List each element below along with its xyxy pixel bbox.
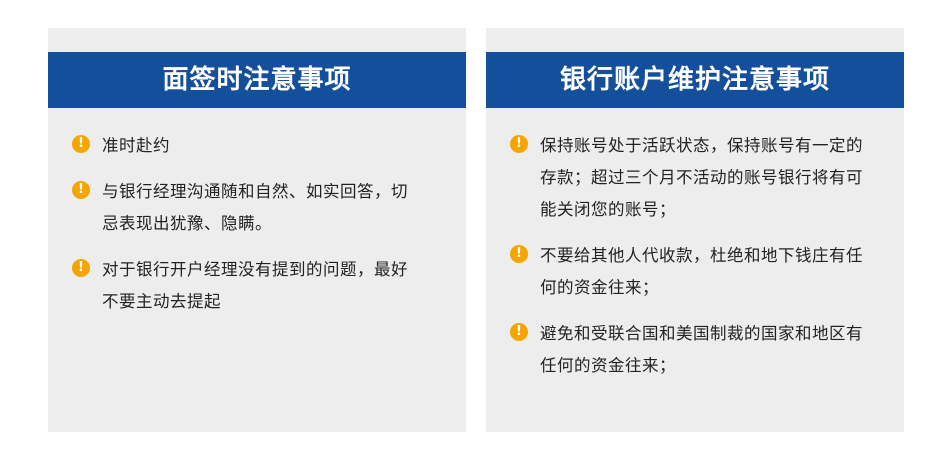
list-item: ! 避免和受联合国和美国制裁的国家和地区有任何的资金往来； <box>510 318 878 382</box>
exclamation-icon: ! <box>510 135 528 153</box>
notice-board: 面签时注意事项 ! 准时赴约 ! 与银行经理沟通随和自然、如实回答，切忌表现出犹… <box>0 0 930 464</box>
exclamation-icon: ! <box>72 135 90 153</box>
exclamation-icon: ! <box>72 181 90 199</box>
list-item: ! 保持账号处于活跃状态，保持账号有一定的存款；超过三个月不活动的账号银行将有可… <box>510 130 878 226</box>
panel-title-left: 面签时注意事项 <box>162 67 351 93</box>
panel-mianqian-notes: 面签时注意事项 ! 准时赴约 ! 与银行经理沟通随和自然、如实回答，切忌表现出犹… <box>48 28 466 432</box>
panel-header-right: 银行账户维护注意事项 <box>486 52 904 108</box>
list-item: ! 不要给其他人代收款，杜绝和地下钱庄有任何的资金往来； <box>510 240 878 304</box>
list-item-text: 保持账号处于活跃状态，保持账号有一定的存款；超过三个月不活动的账号银行将有可能关… <box>540 130 865 226</box>
panel-title-right: 银行账户维护注意事项 <box>560 67 830 93</box>
panel-body-left: ! 准时赴约 ! 与银行经理沟通随和自然、如实回答，切忌表现出犹豫、隐瞒。 ! … <box>48 108 466 342</box>
panel-body-right: ! 保持账号处于活跃状态，保持账号有一定的存款；超过三个月不活动的账号银行将有可… <box>486 108 904 406</box>
list-item-text: 对于银行开户经理没有提到的问题，最好不要主动去提起 <box>102 254 424 318</box>
list-item: ! 与银行经理沟通随和自然、如实回答，切忌表现出犹豫、隐瞒。 <box>72 176 440 240</box>
list-item: ! 准时赴约 <box>72 130 440 162</box>
exclamation-icon: ! <box>72 259 90 277</box>
exclamation-icon: ! <box>510 245 528 263</box>
list-item: ! 对于银行开户经理没有提到的问题，最好不要主动去提起 <box>72 254 440 318</box>
panel-account-maintenance-notes: 银行账户维护注意事项 ! 保持账号处于活跃状态，保持账号有一定的存款；超过三个月… <box>486 28 904 432</box>
list-item-text: 避免和受联合国和美国制裁的国家和地区有任何的资金往来； <box>540 318 865 382</box>
list-item-text: 不要给其他人代收款，杜绝和地下钱庄有任何的资金往来； <box>540 240 865 304</box>
list-item-text: 准时赴约 <box>102 130 424 162</box>
list-item-text: 与银行经理沟通随和自然、如实回答，切忌表现出犹豫、隐瞒。 <box>102 176 424 240</box>
panel-header-left: 面签时注意事项 <box>48 52 466 108</box>
exclamation-icon: ! <box>510 323 528 341</box>
